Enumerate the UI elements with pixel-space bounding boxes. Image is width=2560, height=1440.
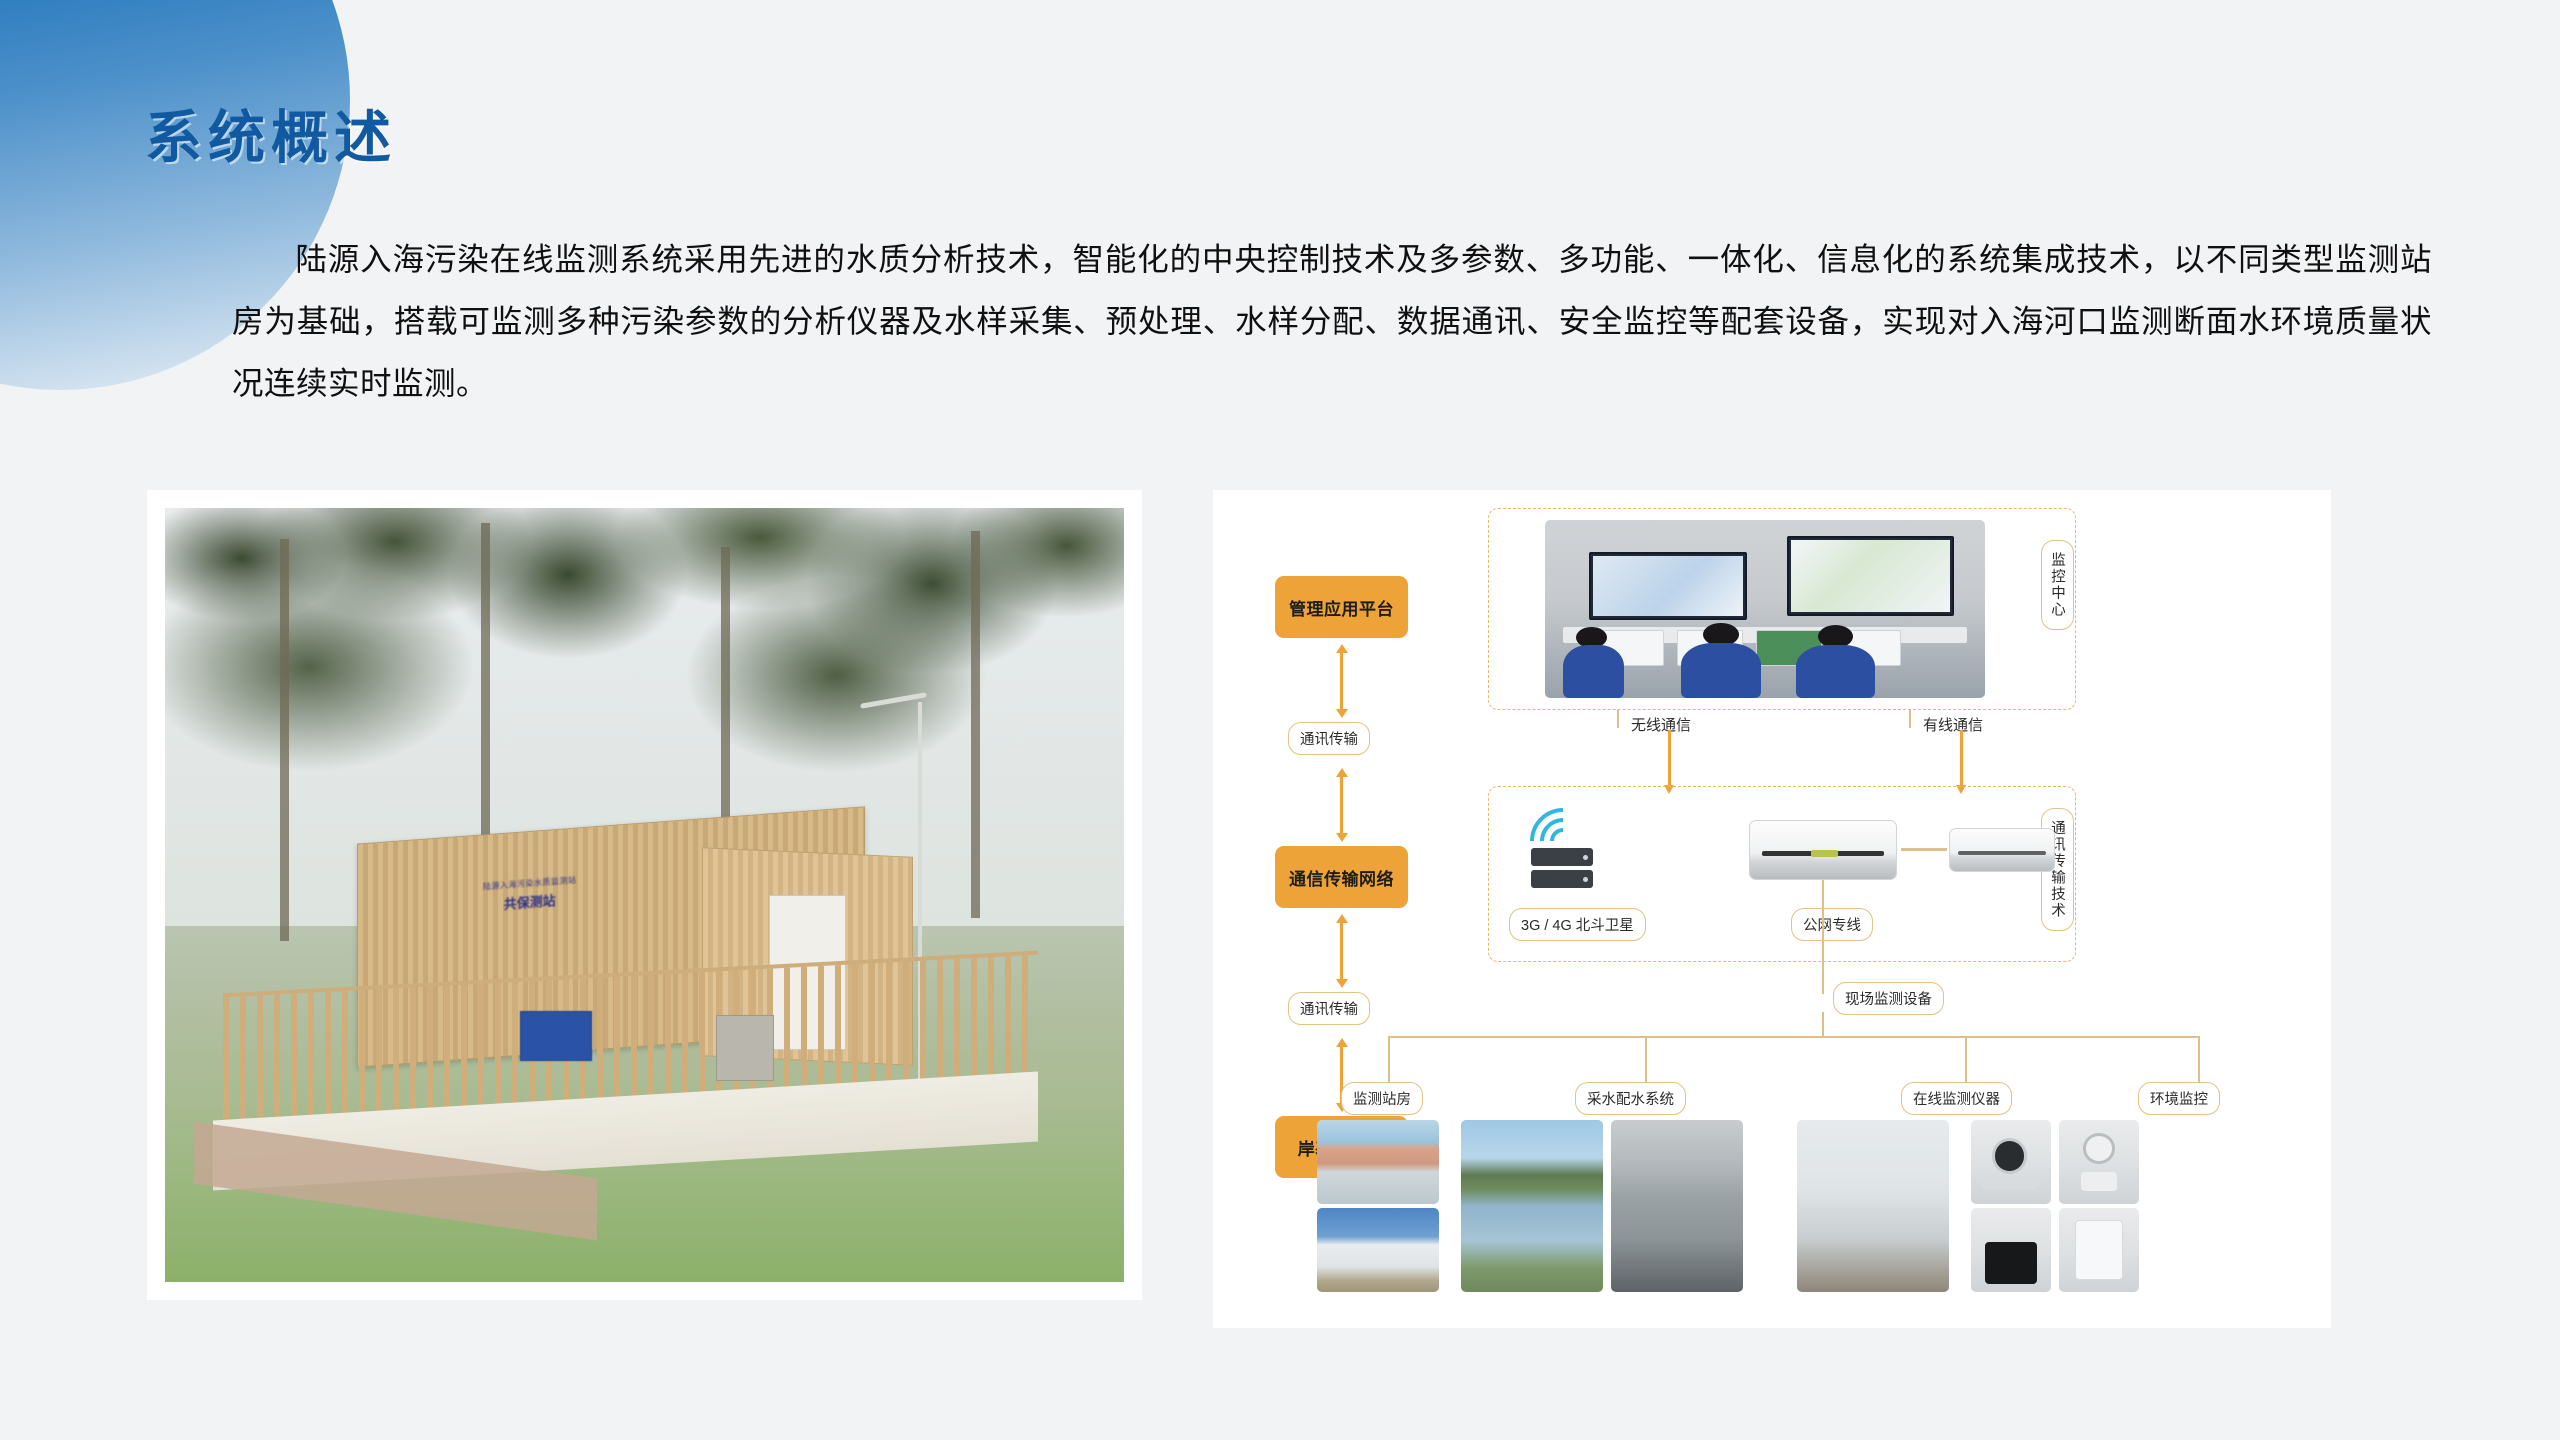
station-photo-image: 陆源入海污染水质监测站 共保测站	[165, 508, 1124, 1282]
station-photo-panel: 陆源入海污染水质监测站 共保测站	[147, 490, 1142, 1300]
arrow-wired-down	[1960, 730, 1963, 786]
diagram-pill-comm-transport-upper[interactable]: 通讯传输	[1288, 722, 1370, 755]
field-node-online-instruments[interactable]: 在线监测仪器	[1901, 1082, 2012, 1115]
monitor-center-group-label[interactable]: 监控中心	[2041, 540, 2074, 630]
field-node-label: 在线监测仪器	[1913, 1088, 2000, 1109]
field-tier-label-text: 现场监测设备	[1845, 988, 1932, 1009]
comm-node-label: 公网专线	[1803, 914, 1861, 935]
sensor-lens-icon	[2083, 1133, 2115, 1163]
paragraph-text: 陆源入海污染在线监测系统采用先进的水质分析技术，智能化的中央控制技术及多参数、多…	[232, 241, 2432, 401]
monitor-center-photo	[1545, 520, 1985, 698]
diagram-box-comm-network[interactable]: 通信传输网络	[1275, 846, 1408, 908]
comm-node-label: 3G / 4G 北斗卫星	[1521, 914, 1634, 935]
field-photo-water-distribution-machine	[1611, 1120, 1743, 1292]
operator-body	[1681, 643, 1760, 698]
router-status-led	[1811, 850, 1837, 857]
label-wired-comm: 有线通信	[1923, 714, 1983, 735]
gateway-router	[1749, 820, 1897, 880]
server-unit-bottom	[1531, 870, 1593, 888]
field-node-environment-monitoring[interactable]: 环境监控	[2138, 1082, 2220, 1115]
monitor-center-label-text: 监控中心	[2047, 552, 2068, 618]
diagram-box-label: 通信传输网络	[1289, 865, 1394, 890]
sensor-switch-base	[2081, 1172, 2116, 1190]
field-tier-group-label[interactable]: 现场监测设备	[1833, 982, 1944, 1015]
field-node-label: 环境监控	[2150, 1088, 2208, 1109]
field-node-station-house[interactable]: 监测站房	[1341, 1082, 1423, 1115]
diagram-arrow-platform-to-transport	[1340, 652, 1343, 710]
page-title: 系统概述	[145, 92, 397, 174]
diagram-arrow-network-to-transport	[1340, 922, 1343, 980]
field-photo-controller-box	[1971, 1208, 2051, 1292]
diagram-pill-comm-transport-lower[interactable]: 通讯传输	[1288, 992, 1370, 1025]
connector-field-horizontal-bus	[1388, 1036, 2200, 1038]
tree-trunk	[971, 531, 980, 918]
wireless-comm-text: 无线通信	[1631, 717, 1691, 734]
field-photo-station-house-bottom	[1317, 1208, 1439, 1292]
body-paragraph: 陆源入海污染在线监测系统采用先进的水质分析技术，智能化的中央控制技术及多参数、多…	[232, 228, 2432, 414]
connector-router-trunk	[1822, 880, 1824, 994]
system-architecture-diagram: 管理应用平台 通讯传输 通信传输网络 通讯传输 岸基监测站 监控中心	[1213, 490, 2331, 1328]
server-unit-top	[1531, 848, 1593, 866]
connector-drop-env-monitor	[2198, 1036, 2200, 1086]
edge-modem	[1949, 828, 2055, 872]
wall-screen-right	[1787, 536, 1954, 616]
modem-port-strip	[1958, 851, 2045, 855]
controller-screen	[1985, 1242, 2036, 1284]
camera-mount-base	[1981, 1177, 2039, 1189]
connector-wireless-vertical	[1617, 710, 1619, 728]
field-node-label: 监测站房	[1353, 1088, 1411, 1109]
comm-node-public-line[interactable]: 公网专线	[1791, 908, 1873, 941]
label-wireless-comm: 无线通信	[1631, 714, 1691, 735]
info-board-plate	[716, 1015, 774, 1081]
diagram-pill-label: 通讯传输	[1300, 998, 1358, 1019]
connector-drop-instruments	[1965, 1036, 1967, 1086]
field-node-label: 采水配水系统	[1587, 1088, 1674, 1109]
wall-screen-left	[1589, 552, 1747, 620]
warning-sign-plate	[520, 1011, 592, 1061]
connector-wired-vertical	[1909, 710, 1911, 728]
diagram-box-label: 管理应用平台	[1289, 595, 1394, 620]
operator-body	[1796, 645, 1875, 698]
diagram-box-management-platform[interactable]: 管理应用平台	[1275, 576, 1408, 638]
field-photo-sensor-panel	[2059, 1120, 2139, 1204]
field-photo-detector-unit	[2059, 1208, 2139, 1292]
diagram-arrow-transport-to-network	[1340, 776, 1343, 834]
station-sign-line2: 共保测站	[503, 891, 555, 914]
diagram-pill-label: 通讯传输	[1300, 728, 1358, 749]
field-photo-water-intake	[1461, 1120, 1603, 1292]
field-photo-station-house-top	[1317, 1120, 1439, 1204]
connector-router-to-modem	[1901, 848, 1947, 851]
wired-comm-text: 有线通信	[1923, 717, 1983, 734]
dome-camera-icon	[1992, 1138, 2027, 1173]
field-node-water-sampling-system[interactable]: 采水配水系统	[1575, 1082, 1686, 1115]
comm-node-3g4g-beidou[interactable]: 3G / 4G 北斗卫星	[1509, 908, 1646, 941]
station-sign-line1: 陆源入海污染水质监测站	[483, 875, 577, 893]
detector-face	[2075, 1220, 2123, 1280]
operator-body	[1563, 645, 1625, 698]
arrow-wireless-down	[1668, 730, 1671, 786]
slide-canvas: 系统概述 陆源入海污染在线监测系统采用先进的水质分析技术，智能化的中央控制技术及…	[0, 0, 2560, 1440]
connector-drop-station-house	[1388, 1036, 1390, 1086]
field-photo-camera-device	[1971, 1120, 2051, 1204]
connector-drop-water-system	[1645, 1036, 1647, 1086]
field-photo-instrument-cabinets	[1797, 1120, 1949, 1292]
connector-field-trunk-down	[1822, 1012, 1824, 1038]
tree-trunk	[280, 539, 289, 941]
